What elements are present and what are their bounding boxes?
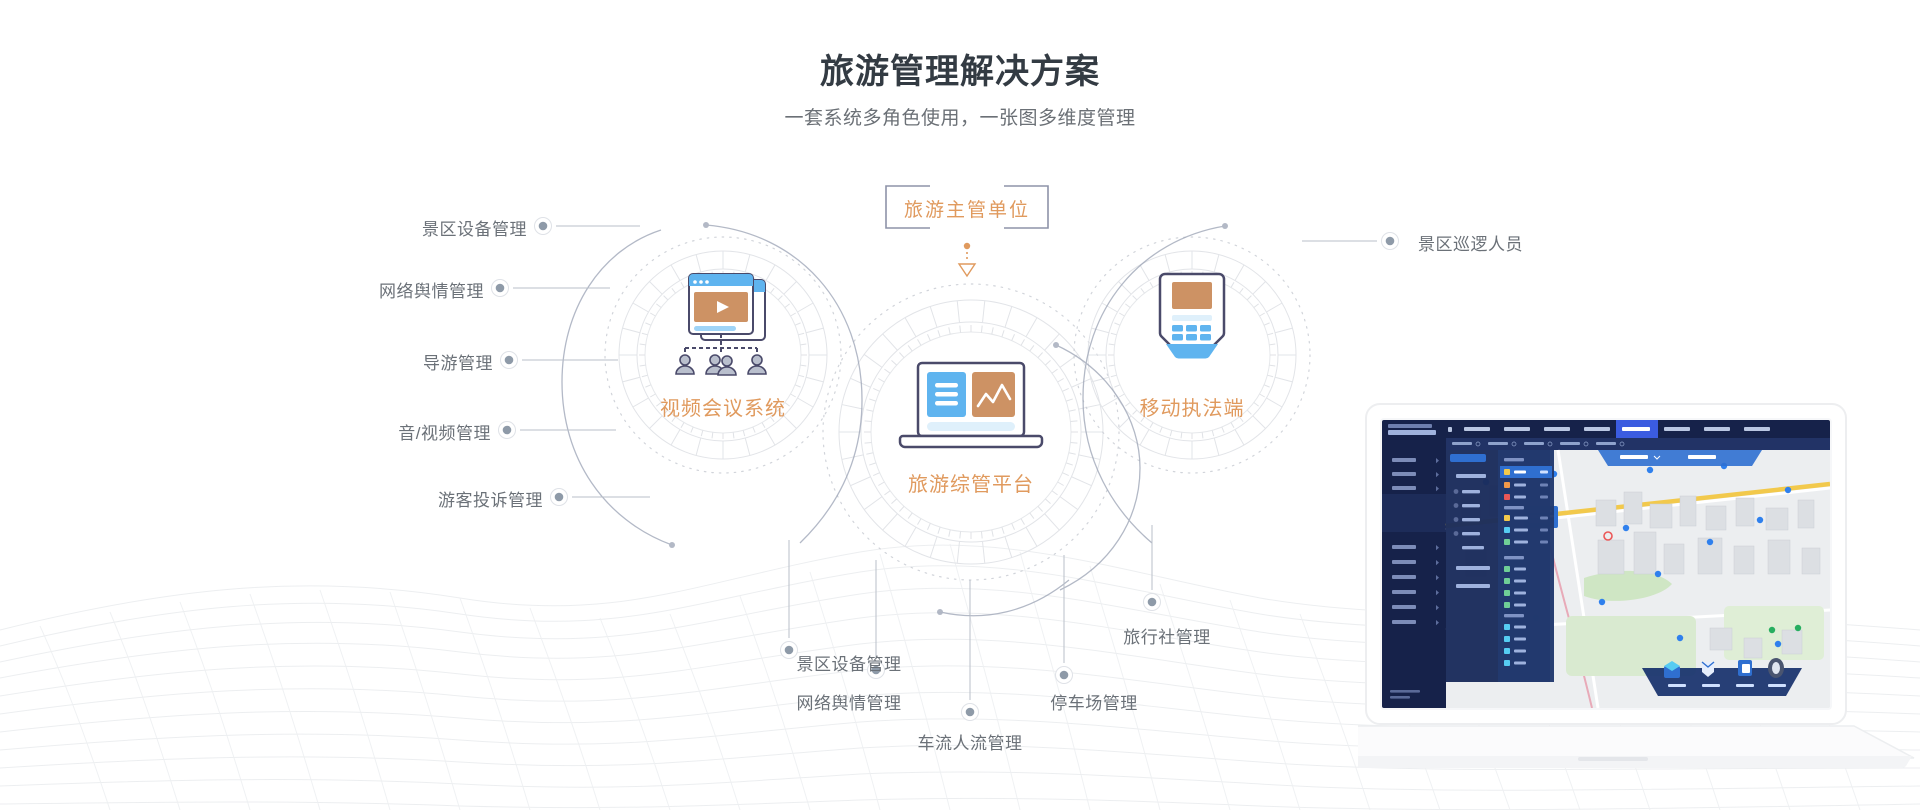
bottom-label-scenic-equipment[interactable]: 景区设备管理 — [729, 650, 969, 675]
left-connectors — [513, 226, 650, 497]
node-caption-mobile-enforcement[interactable]: 移动执法端 — [1092, 392, 1292, 421]
page-title: 旅游管理解决方案 — [0, 44, 1920, 93]
left-node-rings — [605, 237, 841, 473]
left-label-network-opinion[interactable]: 网络舆情管理 — [164, 277, 484, 302]
left-label-audio-video[interactable]: 音/视频管理 — [171, 419, 491, 444]
page-subtitle: 一套系统多角色使用，一张图多维度管理 — [0, 103, 1920, 130]
video-window-icon — [676, 274, 766, 375]
right-label-scenic-patrol[interactable]: 景区巡逻人员 — [1418, 230, 1738, 255]
left-label-tour-guide[interactable]: 导游管理 — [173, 349, 493, 374]
right-connector-dots — [1382, 233, 1399, 250]
node-caption-tourism-platform[interactable]: 旅游综管平台 — [871, 468, 1071, 497]
laptop-mockup — [1358, 400, 1918, 790]
left-label-scenic-equipment[interactable]: 景区设备管理 — [207, 215, 527, 240]
gov-authority-label: 旅游主管单位 — [904, 195, 1030, 222]
left-connector-dots — [492, 218, 568, 506]
gov-box-arrow — [959, 243, 975, 276]
gov-authority-box[interactable]: 旅游主管单位 — [886, 186, 1048, 230]
dashboard-screen — [1382, 420, 1830, 708]
bottom-label-traffic-flow[interactable]: 车流人流管理 — [820, 729, 1120, 754]
handheld-device-icon — [1160, 274, 1224, 359]
node-caption-video-conference[interactable]: 视频会议系统 — [623, 392, 823, 421]
left-label-tourist-complaint[interactable]: 游客投诉管理 — [223, 486, 543, 511]
bottom-label-network-opinion[interactable]: 网络舆情管理 — [699, 689, 999, 714]
laptop-dashboard-icon — [900, 363, 1042, 447]
diagram-stage: 旅游管理解决方案 一套系统多角色使用，一张图多维度管理 — [0, 0, 1920, 810]
bottom-label-travel-agency[interactable]: 旅行社管理 — [1047, 623, 1287, 648]
bottom-label-parking[interactable]: 停车场管理 — [974, 689, 1214, 714]
